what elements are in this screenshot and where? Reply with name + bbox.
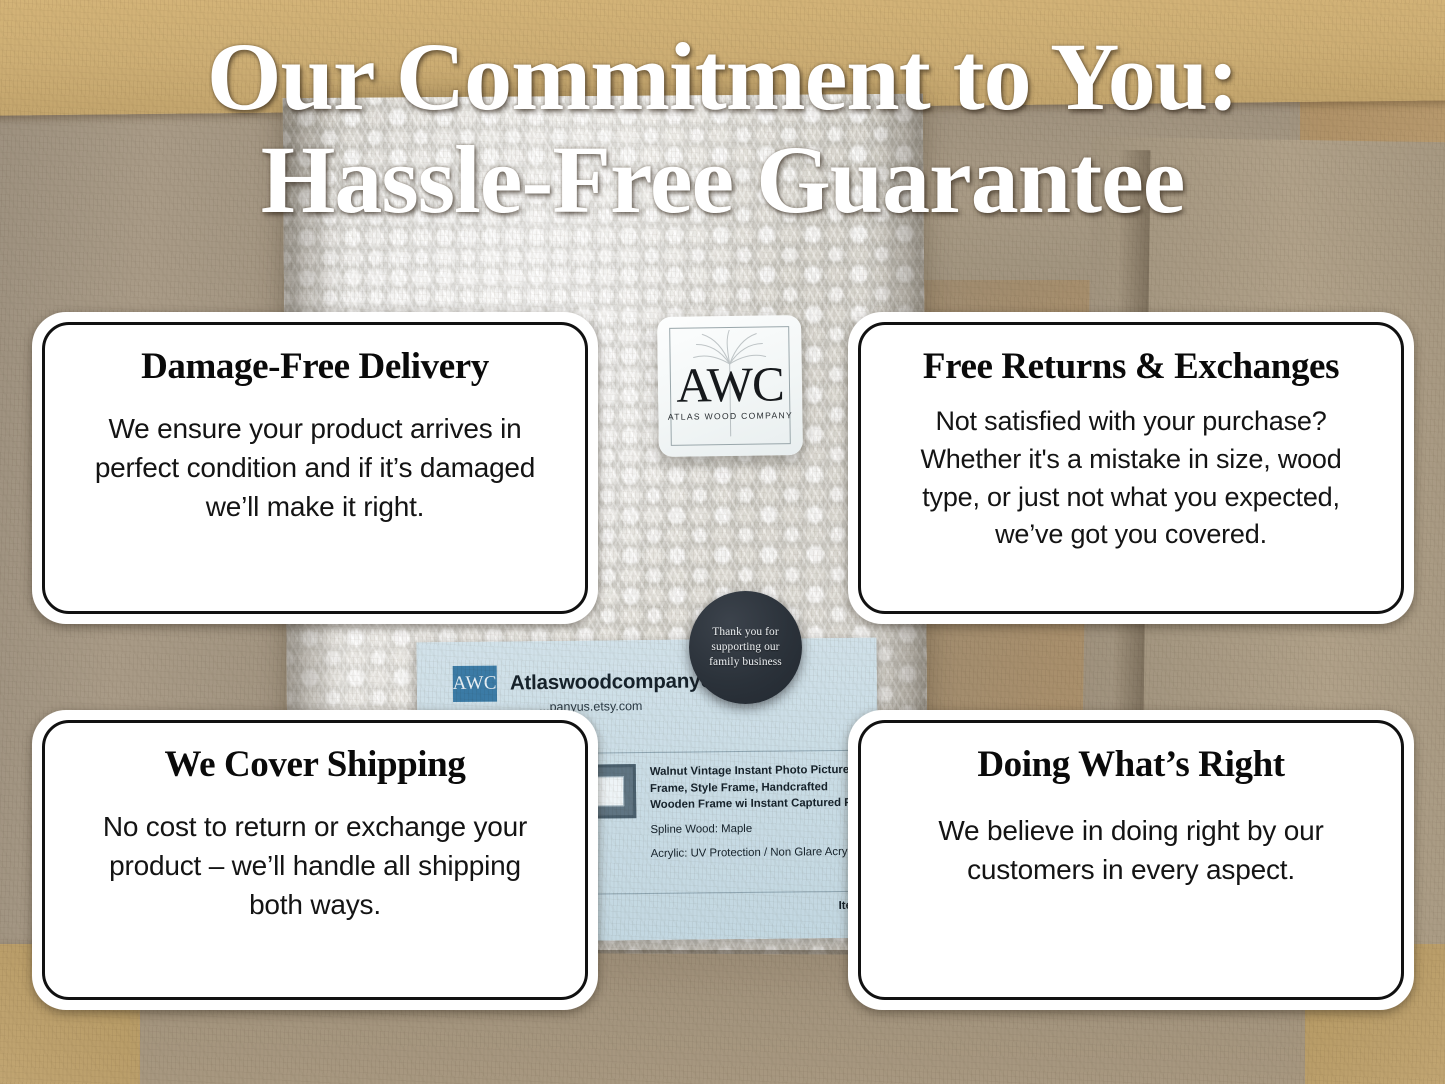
card-damage-free-delivery: Damage-Free Delivery We ensure your prod… — [32, 312, 598, 624]
card-title: We Cover Shipping — [165, 745, 466, 785]
page-title-line-1: Our Commitment to You: — [207, 23, 1238, 130]
awc-monogram: AWC — [658, 359, 803, 410]
card-body: We believe in doing right by our custome… — [896, 811, 1366, 889]
awc-tagline: ATLAS WOOD COMPANY — [658, 410, 802, 422]
guarantee-graphic: AWC AtlaswoodcompanyUS ...panyus.etsy.co… — [0, 0, 1445, 1084]
card-we-cover-shipping: We Cover Shipping No cost to return or e… — [32, 710, 598, 1010]
card-title: Damage-Free Delivery — [141, 347, 489, 387]
card-inner: Free Returns & Exchanges Not satisfied w… — [858, 322, 1404, 614]
card-doing-whats-right: Doing What’s Right We believe in doing r… — [848, 710, 1414, 1010]
card-body: Not satisfied with your purchase? Whethe… — [896, 403, 1366, 554]
page-title: Our Commitment to You: Hassle-Free Guara… — [0, 26, 1445, 231]
thank-you-sticker: Thank you for supporting our family busi… — [689, 591, 802, 704]
card-inner: Damage-Free Delivery We ensure your prod… — [42, 322, 588, 614]
card-free-returns-exchanges: Free Returns & Exchanges Not satisfied w… — [848, 312, 1414, 624]
page-title-line-2: Hassle-Free Guarantee — [0, 129, 1445, 232]
card-body: No cost to return or exchange your produ… — [80, 807, 550, 925]
card-inner: Doing What’s Right We believe in doing r… — [858, 720, 1404, 1000]
card-title: Free Returns & Exchanges — [923, 347, 1339, 387]
thank-you-text: Thank you for supporting our family busi… — [698, 625, 794, 670]
card-body: We ensure your product arrives in perfec… — [80, 409, 550, 527]
card-title: Doing What’s Right — [977, 745, 1284, 785]
awc-brand-sticker: AWC ATLAS WOOD COMPANY — [657, 315, 803, 457]
card-inner: We Cover Shipping No cost to return or e… — [42, 720, 588, 1000]
